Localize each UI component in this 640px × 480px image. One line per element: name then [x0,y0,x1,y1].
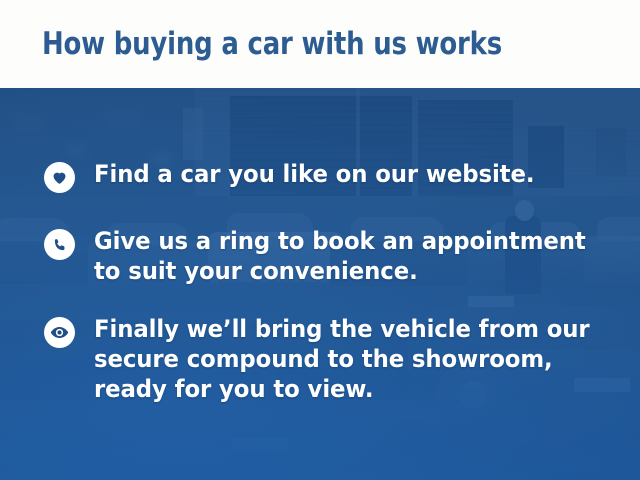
eye-icon [44,317,75,348]
phone-icon [44,229,75,260]
step-item-3: Finally we’ll bring the vehicle from our… [44,314,614,404]
header-band: How buying a car with us works [0,0,640,88]
step-item-1: Find a car you like on our website. [44,159,558,193]
step-line: ready for you to view. [94,374,588,404]
step-line: Finally we’ll bring the vehicle from our [94,314,588,344]
promo-slide: How buying a car with us works Find a ca… [0,0,640,480]
heart-icon [44,162,75,193]
step-text-3: Finally we’ll bring the vehicle from our… [94,314,588,404]
page-title: How buying a car with us works [42,24,502,64]
step-text-2: Give us a ring to book an appointment to… [94,226,586,286]
step-line: to suit your convenience. [94,256,586,286]
step-line: Give us a ring to book an appointment [94,226,586,256]
step-item-2: Give us a ring to book an appointment to… [44,226,612,286]
step-text-1: Find a car you like on our website. [94,159,534,189]
step-line: Find a car you like on our website. [94,159,534,189]
step-line: secure compound to the showroom, [94,344,588,374]
steps-list: Find a car you like on our website. Give… [0,88,640,480]
